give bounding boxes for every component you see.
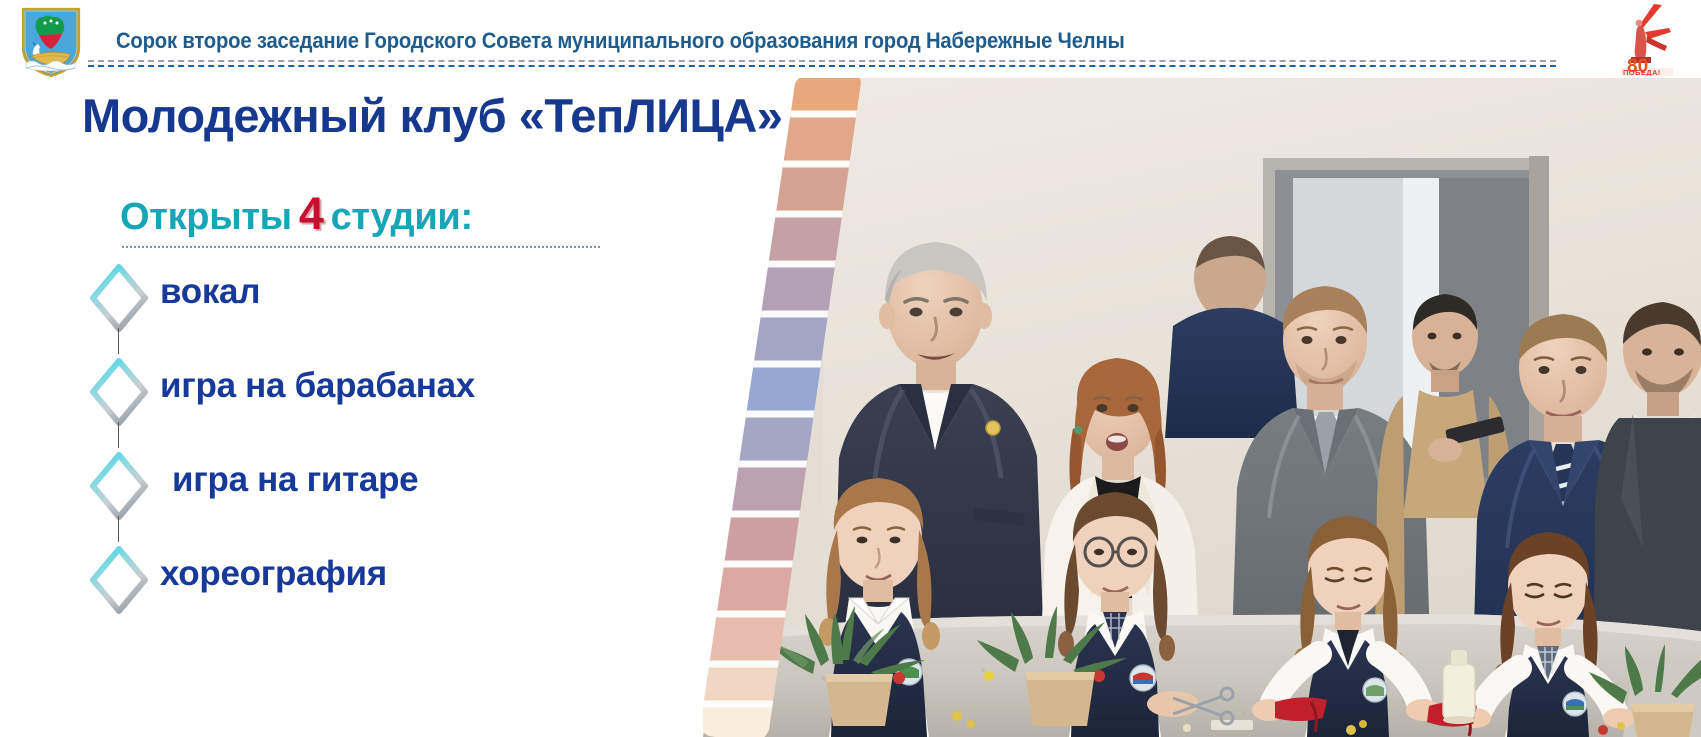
- victory-80-logo-icon: 80 ПОБЕДА!: [1609, 2, 1685, 76]
- bullet-connector: [118, 422, 119, 448]
- bullet-connector: [118, 328, 119, 354]
- list-item: игра на барабанах: [88, 352, 708, 446]
- list-item: игра на гитаре: [88, 446, 708, 540]
- header-title: Сорок второе заседание Городского Совета…: [116, 28, 1422, 54]
- bullet-connector: [118, 516, 119, 542]
- coat-of-arms-icon: [18, 6, 84, 78]
- list-item: вокал: [88, 258, 708, 352]
- subtitle-suffix: студии:: [331, 196, 473, 238]
- photo-image: [703, 78, 1701, 737]
- subtitle-underline: [122, 246, 600, 248]
- header-divider: [88, 60, 1556, 68]
- studio-count: 4: [292, 188, 331, 239]
- diamond-bullet-icon: [88, 546, 150, 614]
- diamond-bullet-icon: [88, 358, 150, 426]
- list-item: хореография: [88, 540, 708, 634]
- list-item-label: хореография: [160, 554, 387, 594]
- list-item-label: игра на барабанах: [160, 366, 475, 406]
- subtitle-prefix: Открыты: [120, 196, 292, 238]
- list-item-label: игра на гитаре: [172, 460, 418, 500]
- diamond-bullet-icon: [88, 264, 150, 332]
- presentation-slide: Сорок второе заседание Городского Совета…: [0, 0, 1701, 737]
- diamond-bullet-icon: [88, 452, 150, 520]
- subtitle-block: Открыты4студии:: [120, 188, 620, 248]
- studio-list: вокал игра на барабанах игра н: [88, 258, 708, 634]
- slide-header: Сорок второе заседание Городского Совета…: [0, 0, 1701, 78]
- page-title: Молодежный клуб «ТепЛИЦА»: [82, 88, 782, 143]
- list-item-label: вокал: [160, 272, 260, 312]
- subtitle-line: Открыты4студии:: [120, 188, 620, 240]
- photo-panel: [703, 78, 1701, 737]
- svg-text:ПОБЕДА!: ПОБЕДА!: [1623, 68, 1661, 76]
